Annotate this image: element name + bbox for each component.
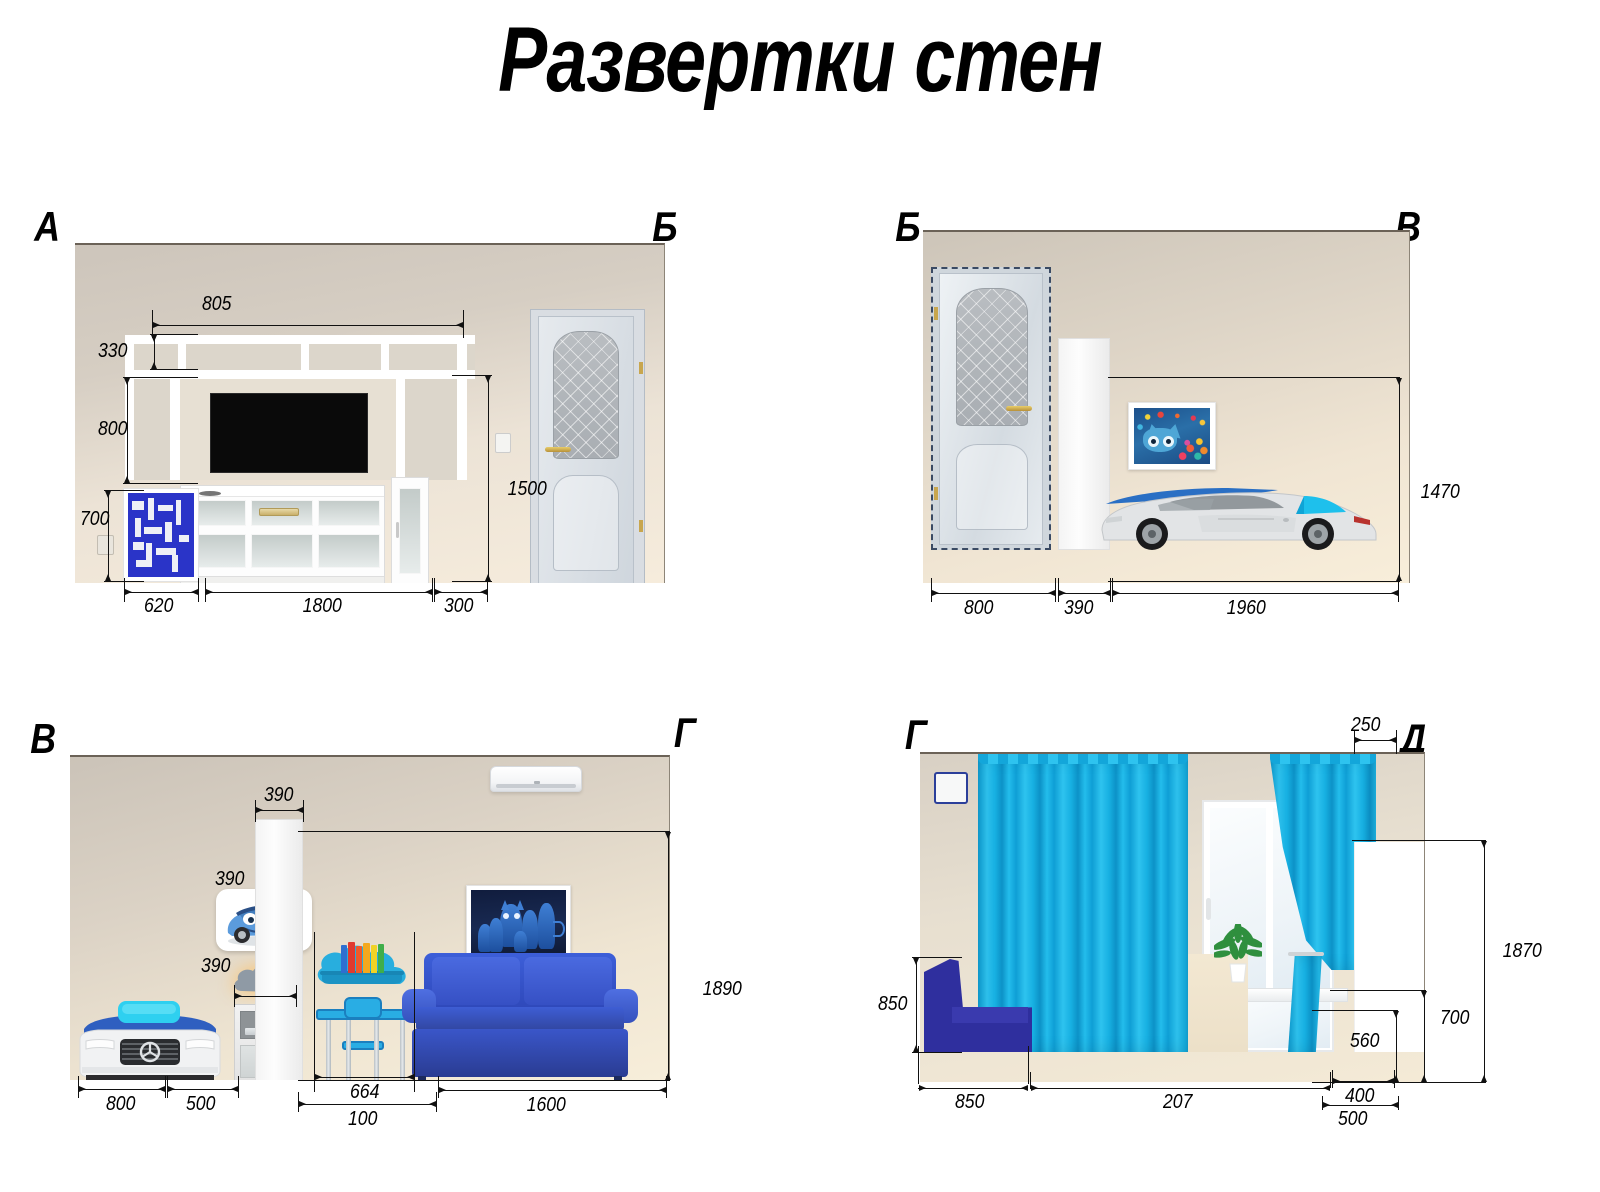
dimline-d1870 — [1484, 840, 1485, 1082]
dim-label-b1960: 1960 — [1227, 597, 1266, 620]
ext-800-top — [123, 377, 198, 378]
ext-1470-bot — [1108, 581, 1400, 582]
curtain-tieback — [1288, 952, 1324, 956]
arrow-d850w-r — [1021, 1085, 1028, 1091]
door-hinge-top — [934, 307, 938, 320]
dim-label-1800: 1800 — [303, 595, 342, 618]
chair-leg-1 — [346, 1020, 351, 1080]
arrow-c100-l — [299, 1101, 306, 1107]
dimline-c390ns — [234, 996, 296, 997]
chair-back — [344, 997, 382, 1019]
window-handle — [1206, 898, 1211, 920]
ext-d560-bot — [1312, 1082, 1398, 1083]
dimline-620 — [124, 592, 198, 593]
arrow-1800-l — [206, 589, 213, 595]
cat-tail — [553, 921, 565, 937]
dim-label-d850h: 850 — [878, 993, 907, 1016]
arrow-300-l — [435, 589, 442, 595]
arrow-d700-b — [1421, 1075, 1427, 1082]
sofa-base — [412, 1029, 628, 1077]
arrow-d250-l — [1355, 737, 1362, 743]
dim-label-d850w: 850 — [955, 1091, 984, 1114]
dim-label-c1600: 1600 — [527, 1094, 566, 1117]
book-4 — [363, 943, 370, 973]
dimline-1800 — [205, 592, 432, 593]
ext-d700-top — [1330, 990, 1426, 991]
cat-front-small — [514, 931, 527, 952]
dimline-c100 — [298, 1104, 436, 1105]
dimline-700 — [108, 490, 109, 581]
dim-label-1500: 1500 — [508, 478, 547, 501]
dimline-d850h — [916, 957, 917, 1052]
power-socket-icon — [97, 535, 114, 555]
dimline-1470 — [1399, 377, 1400, 581]
dim-label-d700: 700 — [1440, 1007, 1469, 1030]
dim-label-c390ns: 390 — [201, 955, 230, 978]
television-icon — [210, 393, 368, 473]
dim-label-300: 300 — [444, 595, 473, 618]
book-5 — [371, 945, 377, 973]
wall-surface-b-v — [923, 230, 1410, 583]
potted-plant-icon — [1214, 924, 1262, 986]
blue-sofa — [402, 953, 638, 1080]
ext-620-r — [198, 578, 199, 602]
corner-letter-d-left: Г — [905, 714, 927, 756]
cat-center-ear-r — [516, 900, 524, 910]
glass-cabinet-tower — [391, 477, 429, 583]
ext-d500-r — [1398, 1096, 1399, 1110]
page-title: Развертки стен — [160, 8, 1440, 113]
arrow-b390-r — [1103, 590, 1110, 596]
sofa-seat-cushion — [416, 1007, 624, 1031]
arrow-c1600-r — [659, 1087, 666, 1093]
ext-d400-r — [1394, 1070, 1395, 1088]
cabinet-handle — [396, 522, 399, 538]
arrow-d250-r — [1389, 737, 1396, 743]
arrow-b1960-l — [1113, 590, 1120, 596]
unit-divider-5 — [396, 379, 405, 480]
ext-c390ns-r — [296, 985, 297, 1007]
white-partition-column — [255, 819, 303, 1080]
cat-eye-2 — [514, 913, 520, 919]
dim-label-d500: 500 — [1338, 1108, 1367, 1131]
cabinet-glass-door — [399, 488, 421, 574]
console-plinth — [181, 576, 384, 583]
dimline-d560 — [1396, 1010, 1397, 1082]
sofa-seat-silhouette — [952, 1007, 1028, 1023]
ext-d250-r — [1396, 730, 1397, 754]
arrow-c500-l — [168, 1086, 175, 1092]
ext-1500-bot — [452, 581, 492, 582]
arrow-d400-l — [1333, 1078, 1340, 1084]
arrow-700-b — [105, 574, 111, 581]
wall-surface-a-b — [75, 243, 665, 583]
ext-c1600-r — [666, 1076, 667, 1098]
dim-label-620: 620 — [144, 595, 173, 618]
ext-c100-r — [436, 1092, 437, 1112]
arrow-d850h-t — [913, 958, 919, 965]
arrow-d560-t — [1393, 1011, 1399, 1018]
unit-divider-1 — [178, 335, 186, 379]
dimline-c1890 — [668, 831, 669, 1080]
arrow-c390ns-l — [235, 993, 242, 999]
arrow-d500-l — [1323, 1102, 1330, 1108]
arrow-b390-l — [1059, 590, 1066, 596]
ext-330-bot — [150, 369, 198, 370]
unit-frame-right — [457, 335, 467, 480]
ext-c1890-top — [298, 831, 670, 832]
ext-b390-r — [1110, 578, 1111, 602]
sofa-back-cushion-right — [524, 957, 612, 1005]
dim-label-c390col: 390 — [264, 784, 293, 807]
arrow-c500-r — [231, 1086, 238, 1092]
dim-label-1470: 1470 — [1421, 481, 1460, 504]
media-device — [199, 491, 221, 496]
ext-d850h-bot — [912, 1052, 962, 1053]
arrow-330-b — [151, 362, 157, 369]
arrow-d207-r — [1323, 1085, 1330, 1091]
ext-c800-r — [165, 1076, 166, 1098]
door-handle-icon — [1006, 406, 1032, 411]
ext-800-bot — [123, 483, 198, 484]
cloud-bookshelf — [314, 937, 414, 993]
arrow-d500-r — [1391, 1102, 1398, 1108]
arrow-d400-r — [1387, 1078, 1394, 1084]
dim-label-d207: 207 — [1163, 1091, 1192, 1114]
arrow-1500-t — [485, 376, 491, 383]
arrow-c390ns-r — [289, 993, 296, 999]
book-6 — [378, 944, 384, 973]
ac-vent — [496, 784, 575, 788]
arrow-805-r — [456, 322, 463, 328]
artwork-canvas — [471, 890, 566, 960]
console-open-shelf-3 — [318, 500, 380, 526]
arrow-620-r — [191, 589, 198, 595]
light-switch-icon — [495, 433, 511, 453]
light-switch-icon — [934, 772, 968, 804]
artwork-canvas — [1134, 408, 1210, 464]
niche-top-3 — [309, 344, 381, 370]
ext-c500-r — [238, 1076, 239, 1098]
tv-console — [180, 485, 385, 583]
arrow-d207-l — [1031, 1085, 1038, 1091]
arrow-b1960-r — [1391, 590, 1398, 596]
dimline-d700 — [1424, 990, 1425, 1082]
arrow-1500-b — [485, 574, 491, 581]
desk-leg-1 — [326, 1020, 331, 1080]
dim-label-d250: 250 — [1351, 714, 1380, 737]
arrow-c1600-l — [439, 1087, 446, 1093]
corner-letter-a-left: А — [34, 206, 60, 248]
arrow-c800-r — [158, 1086, 165, 1092]
dimline-1500 — [488, 375, 489, 581]
dim-label-805: 805 — [202, 293, 231, 316]
door-leaf — [538, 316, 634, 583]
ext-d850w-l — [918, 1046, 919, 1084]
niche-right-tall — [405, 379, 457, 480]
dim-label-c800: 800 — [106, 1093, 135, 1116]
dimline-b1960 — [1112, 593, 1398, 594]
ext-c390col-r — [303, 800, 304, 822]
interior-door — [931, 267, 1051, 550]
book-1 — [341, 945, 347, 973]
dim-label-b800: 800 — [964, 597, 993, 620]
door-hinge-bottom — [639, 520, 643, 532]
ext-d850h-top — [912, 957, 962, 958]
arrow-700-t — [105, 491, 111, 498]
chair-leg-2 — [374, 1020, 379, 1080]
interior-door — [530, 309, 645, 583]
arrow-800-t — [124, 378, 130, 385]
arrow-c390col-l — [256, 807, 263, 813]
book-2 — [348, 942, 355, 973]
corner-letter-c-left: В — [30, 718, 56, 760]
dimline-805 — [152, 325, 463, 326]
ac-logo — [534, 781, 540, 784]
arrow-c664-r — [407, 1074, 414, 1080]
dim-label-c664: 664 — [350, 1081, 379, 1104]
power-strip-icon — [259, 508, 299, 516]
door-lower-panel — [956, 444, 1028, 530]
arrow-c1890-t — [665, 832, 671, 839]
arrow-1470-b — [1396, 574, 1402, 581]
dimline-c664 — [314, 1077, 414, 1078]
ext-c664-r — [414, 932, 415, 1092]
ext-d207-r — [1330, 1072, 1331, 1088]
book-3 — [356, 946, 362, 973]
ext-d850w-r — [1028, 1046, 1029, 1084]
ext-300-r — [487, 578, 488, 602]
sports-car-mural — [1098, 472, 1390, 550]
abstract-blue-artwork — [123, 488, 199, 582]
arrow-d1870-t — [1481, 841, 1487, 848]
dim-label-c100: 100 — [348, 1108, 377, 1131]
ext-c664-l — [314, 932, 315, 1092]
unit-divider-2 — [301, 335, 309, 379]
arrow-c664-l — [315, 1074, 322, 1080]
cat-left — [489, 918, 503, 952]
arrow-b800-r — [1048, 590, 1055, 596]
curtain-rod-left — [978, 754, 1188, 764]
arrow-b800-l — [932, 590, 939, 596]
kids-desk-and-chair — [316, 997, 414, 1080]
door-leaf — [939, 273, 1043, 545]
arrow-c100-r — [429, 1101, 436, 1107]
white-wardrobe-block — [1354, 842, 1425, 1052]
dimline-d850w — [918, 1088, 1028, 1089]
dim-label-c390sticker: 390 — [215, 868, 244, 891]
artwork-canvas — [128, 493, 194, 577]
dim-label-c1890: 1890 — [703, 978, 742, 1001]
arrow-300-r — [480, 589, 487, 595]
dim-label-d1870: 1870 — [1503, 940, 1542, 963]
arrow-d700-t — [1421, 991, 1427, 998]
arrow-1800-r — [425, 589, 432, 595]
niche-top-2 — [186, 344, 301, 370]
sofa-back-cushion-left — [432, 957, 520, 1005]
dim-label-700: 700 — [80, 508, 109, 531]
arrow-800-b — [124, 476, 130, 483]
door-lower-panel — [553, 475, 619, 571]
arrow-c800-l — [79, 1086, 86, 1092]
door-hinge-top — [639, 362, 643, 374]
arrow-c390col-r — [296, 807, 303, 813]
door-glass-panel — [553, 331, 619, 459]
corner-letter-b-left: Б — [895, 206, 920, 248]
ext-b800-r — [1055, 578, 1056, 602]
dimline-d400 — [1332, 1081, 1394, 1082]
dimline-c500 — [167, 1089, 238, 1090]
sports-car-svg — [1098, 472, 1390, 550]
niche-left-tall — [134, 379, 170, 480]
car-bed-svg — [76, 985, 224, 1080]
arrow-d850w-l — [919, 1085, 926, 1091]
dim-label-c500: 500 — [186, 1093, 215, 1116]
console-door-2 — [251, 534, 313, 568]
door-hinge-bottom — [934, 487, 938, 500]
dim-label-d560: 560 — [1350, 1030, 1379, 1053]
cat-eye-right — [1163, 436, 1174, 447]
dimline-d500 — [1322, 1105, 1398, 1106]
air-conditioner-icon — [490, 766, 582, 792]
ext-330-top — [150, 334, 198, 335]
dimline-b800 — [931, 593, 1055, 594]
corner-letter-c-right: Г — [674, 712, 696, 754]
console-door-3 — [318, 534, 380, 568]
corner-letter-a-right: Б — [652, 206, 677, 248]
ext-b1960-r — [1398, 578, 1399, 602]
unit-divider-4 — [170, 379, 180, 480]
ext-1800-r — [432, 578, 433, 602]
curtain-rod-right — [1270, 754, 1376, 764]
cat-center-ear-l — [501, 900, 509, 910]
colorful-cat-artwork — [1128, 402, 1216, 470]
dimline-d207 — [1030, 1088, 1330, 1089]
arrow-d1870-b — [1481, 1075, 1487, 1082]
window-mullion — [1266, 808, 1273, 988]
dim-label-b390: 390 — [1064, 597, 1093, 620]
ext-805-right — [463, 310, 464, 338]
mercedes-car-bed — [76, 985, 224, 1080]
wall-surface-v-g — [70, 755, 670, 1080]
ext-d1870-top — [1352, 840, 1486, 841]
plant-svg — [1214, 924, 1262, 986]
arrow-1470-t — [1396, 378, 1402, 385]
arrow-620-l — [125, 589, 132, 595]
dimline-c1600 — [438, 1090, 666, 1091]
dimline-c800 — [78, 1089, 165, 1090]
unit-divider-3 — [381, 335, 389, 379]
arrow-805-l — [153, 322, 160, 328]
arrow-330-t — [151, 335, 157, 342]
ext-1470-top — [1108, 377, 1400, 378]
ext-d560-top — [1312, 1010, 1398, 1011]
door-handle-icon — [545, 447, 571, 452]
